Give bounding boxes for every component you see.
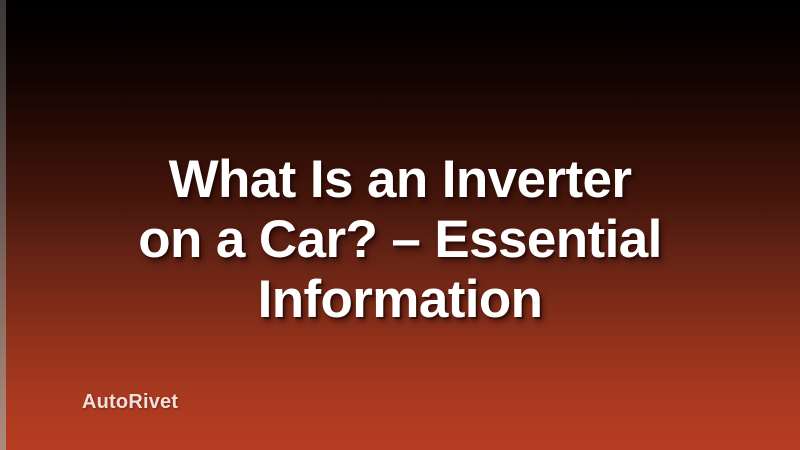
brand-watermark: AutoRivet [82,391,178,414]
card-content: What Is an Inverter on a Car? – Essentia… [0,0,800,450]
page-title: What Is an Inverter on a Car? – Essentia… [0,150,800,330]
title-card: What Is an Inverter on a Car? – Essentia… [0,0,800,450]
